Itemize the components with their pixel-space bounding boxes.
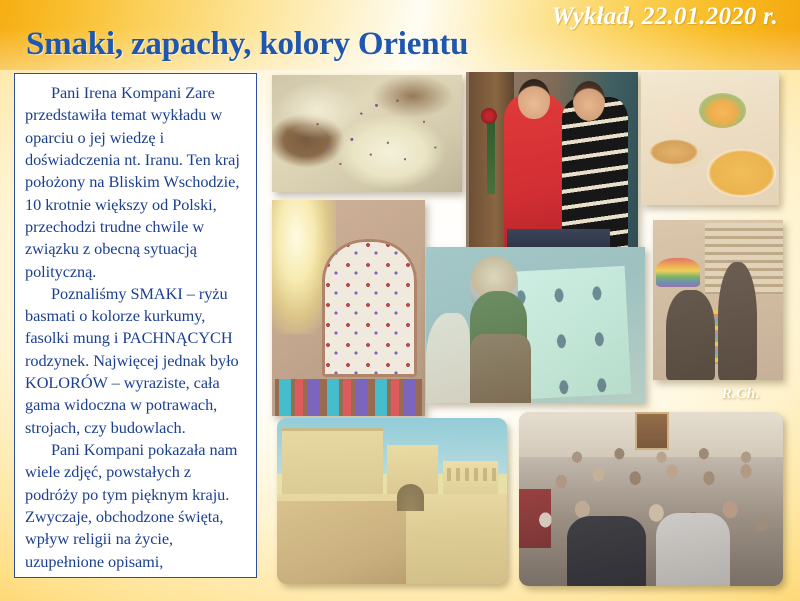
presentation-slide: Wykład, 22.01.2020 r. Smaki, zapachy, ko… — [0, 0, 800, 601]
photo-wash-rice — [272, 75, 462, 192]
photo-wash-table — [641, 72, 779, 205]
rose-bloom — [481, 108, 496, 124]
photo-wash-bazaar — [653, 220, 783, 380]
paragraph-flavours: Poznaliśmy SMAKI – ryżu basmati o kolorz… — [25, 283, 246, 439]
photo-textile-market — [426, 247, 645, 403]
rose-stem — [487, 115, 496, 194]
photo-table-with-dishes — [641, 72, 779, 205]
photo-wash-window — [272, 200, 425, 416]
page-title: Smaki, zapachy, kolory Orientu — [26, 26, 468, 63]
woman-red-head — [518, 79, 551, 119]
photo-wash-audience — [519, 412, 783, 586]
paragraph-intro: Pani Irena Kompani Zare przedstawiła tem… — [25, 82, 246, 283]
lecture-date-label: Wykład, 22.01.2020 r. — [552, 3, 778, 31]
photo-image-women — [466, 72, 638, 252]
photo-wash-textile — [426, 247, 645, 403]
paragraph-photos: Pani Kompani pokazała nam wiele zdjęć, p… — [25, 439, 246, 578]
photo-mosque-window — [272, 200, 425, 416]
description-text-panel: Pani Irena Kompani Zare przedstawiła tem… — [14, 73, 257, 578]
photo-lecture-audience — [519, 412, 783, 586]
photographer-signature: R.Ch. — [722, 386, 760, 403]
photo-two-women-with-rose — [466, 72, 638, 252]
photo-desert-fortress — [277, 418, 507, 584]
woman-striped-head — [573, 81, 606, 121]
photo-bazaar-veiled-women — [653, 220, 783, 380]
photo-platters-of-rice — [272, 75, 462, 192]
photo-wash-fortress — [277, 418, 507, 584]
